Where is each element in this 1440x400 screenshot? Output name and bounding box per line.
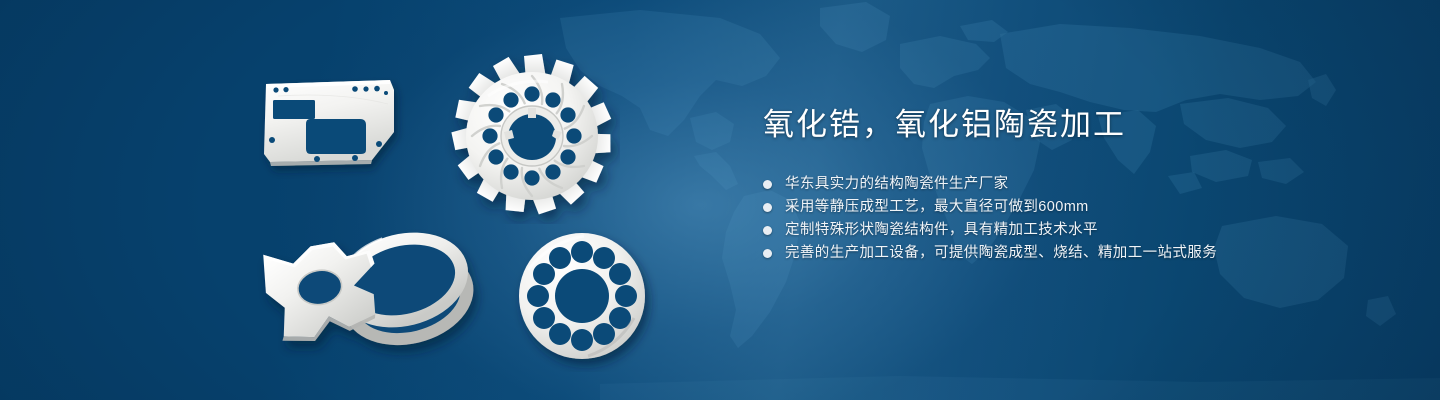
banner-text-column: 氧化锆，氧化铝陶瓷加工 华东具实力的结构陶瓷件生产厂家 采用等静压成型工艺，最大… <box>763 104 1323 265</box>
bullet-text: 完善的生产加工设备，可提供陶瓷成型、烧结、精加工一站式服务 <box>785 242 1217 265</box>
bullet-text: 定制特殊形状陶瓷结构件，具有精加工技术水平 <box>785 219 1098 242</box>
product-image-ceramic-mounting-plate <box>248 62 420 180</box>
promo-banner: 氧化锆，氧化铝陶瓷加工 华东具实力的结构陶瓷件生产厂家 采用等静压成型工艺，最大… <box>0 0 1440 400</box>
list-item: 完善的生产加工设备，可提供陶瓷成型、烧结、精加工一站式服务 <box>763 242 1323 265</box>
product-image-ceramic-cross-part-with-rings <box>250 214 500 370</box>
product-image-ceramic-impeller-rotor <box>444 48 620 224</box>
bullet-text: 华东具实力的结构陶瓷件生产厂家 <box>785 173 1009 196</box>
bullet-text: 采用等静压成型工艺，最大直径可做到600mm <box>785 196 1089 219</box>
product-image-ceramic-perforated-ring-disc <box>508 222 658 372</box>
bullet-dot-icon <box>763 226 772 235</box>
bullet-dot-icon <box>763 249 772 258</box>
list-item: 定制特殊形状陶瓷结构件，具有精加工技术水平 <box>763 219 1323 242</box>
banner-headline: 氧化锆，氧化铝陶瓷加工 <box>763 104 1323 146</box>
bullet-dot-icon <box>763 180 772 189</box>
list-item: 华东具实力的结构陶瓷件生产厂家 <box>763 173 1323 196</box>
bullet-dot-icon <box>763 203 772 212</box>
product-photo-group <box>0 0 720 400</box>
banner-bullet-list: 华东具实力的结构陶瓷件生产厂家 采用等静压成型工艺，最大直径可做到600mm 定… <box>763 173 1323 265</box>
list-item: 采用等静压成型工艺，最大直径可做到600mm <box>763 196 1323 219</box>
